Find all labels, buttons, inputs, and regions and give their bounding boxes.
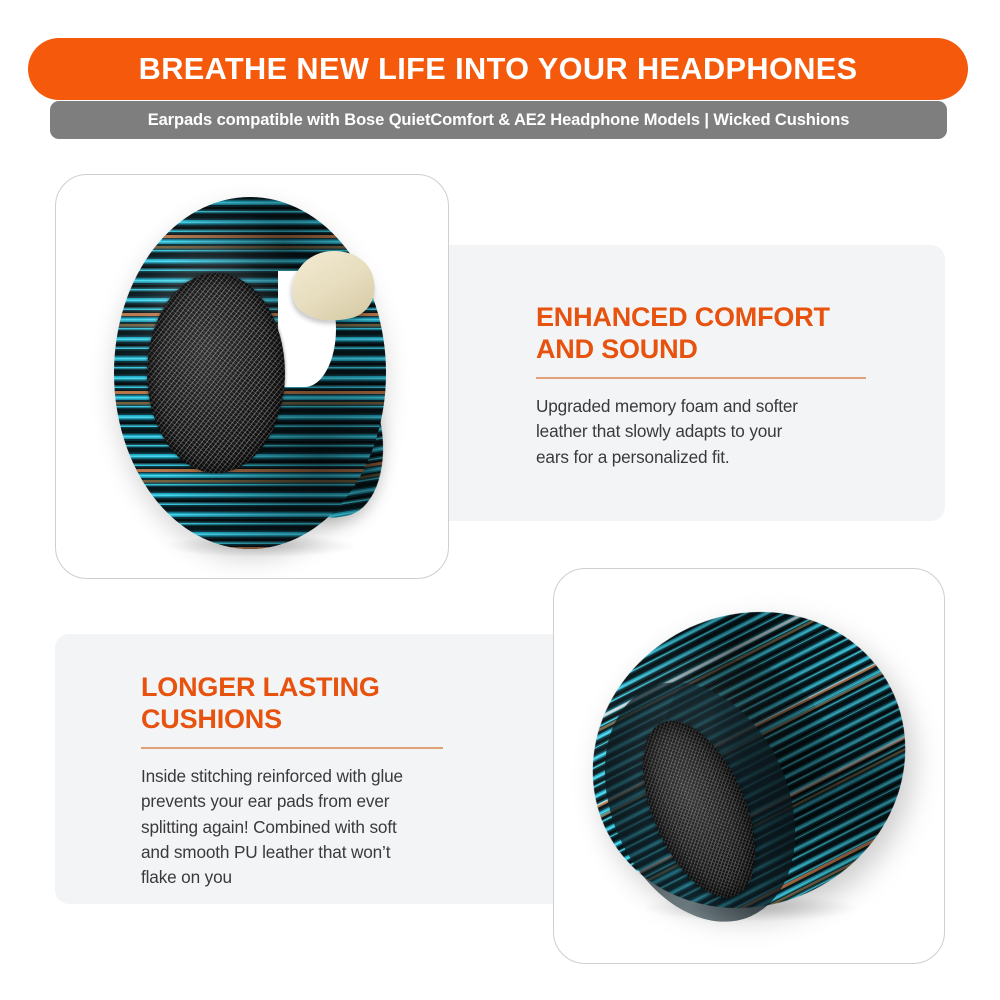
feature-heading: LONGER LASTING CUSHIONS (141, 672, 461, 735)
infographic-page: BREATHE NEW LIFE INTO YOUR HEADPHONES Ea… (0, 0, 1000, 1000)
feature-panel-enhanced-comfort: ENHANCED COMFORT AND SOUND Upgraded memo… (432, 245, 945, 521)
headline-text: BREATHE NEW LIFE INTO YOUR HEADPHONES (139, 51, 858, 87)
feature-panel-content: ENHANCED COMFORT AND SOUND Upgraded memo… (536, 302, 876, 470)
feature-body: Inside stitching reinforced with glue pr… (141, 764, 461, 890)
earpad-illustration-front (56, 175, 448, 578)
compatibility-bar: Earpads compatible with Bose QuietComfor… (50, 101, 947, 139)
feature-panel-longer-lasting: LONGER LASTING CUSHIONS Inside stitching… (55, 634, 567, 904)
feature-panel-content: LONGER LASTING CUSHIONS Inside stitching… (141, 672, 461, 891)
feature-divider (141, 747, 443, 749)
feature-body: Upgraded memory foam and softer leather … (536, 394, 876, 470)
feature-divider (536, 377, 866, 379)
feature-heading: ENHANCED COMFORT AND SOUND (536, 302, 876, 365)
headline-banner: BREATHE NEW LIFE INTO YOUR HEADPHONES (28, 38, 968, 100)
product-photo-card-angled (553, 568, 945, 964)
product-photo-card-front (55, 174, 449, 579)
compatibility-text: Earpads compatible with Bose QuietComfor… (148, 111, 850, 130)
speaker-mesh-oval (147, 273, 285, 473)
earpad-illustration-angled (554, 569, 944, 963)
drop-shadow-ellipse (166, 535, 356, 557)
